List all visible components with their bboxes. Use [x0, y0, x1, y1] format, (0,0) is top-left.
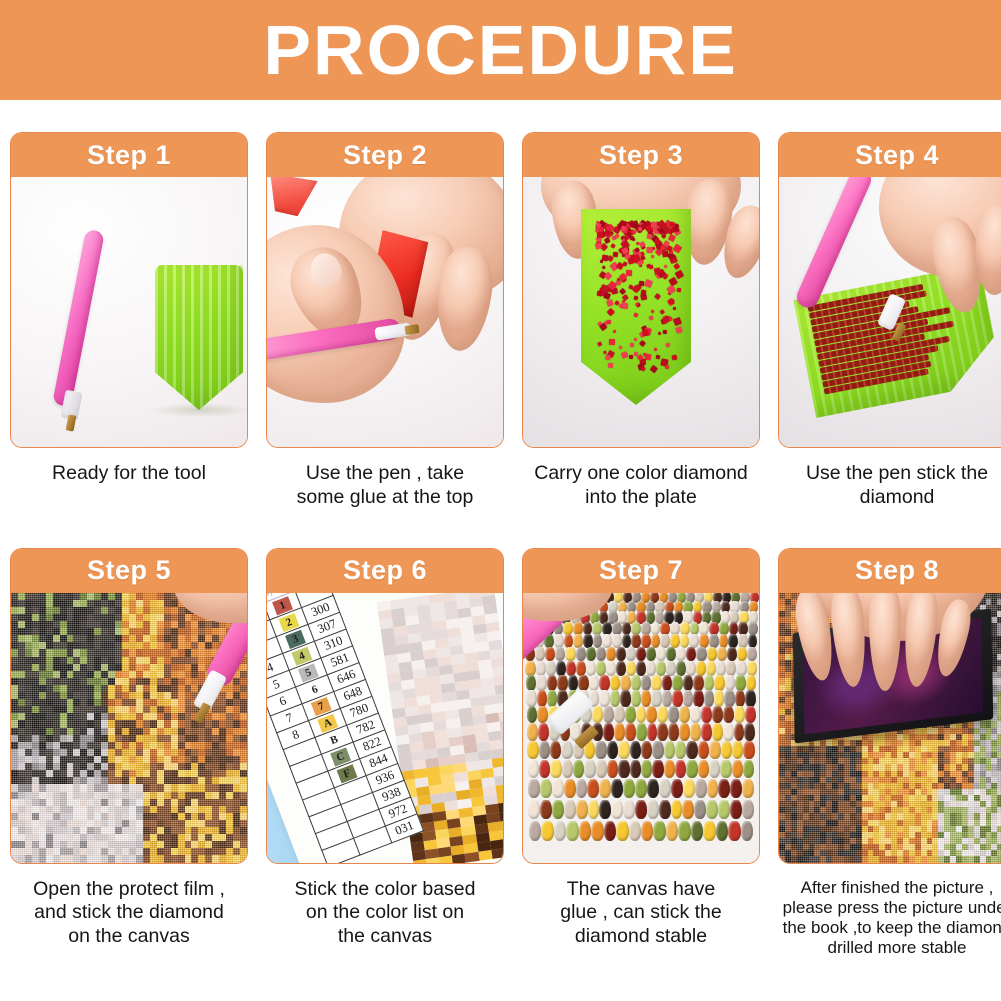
step-caption-7: The canvas have glue , can stick the dia…: [522, 878, 760, 949]
step-photo-2: [267, 177, 503, 447]
step-photo-7: [523, 593, 759, 863]
step-header-5: Step 5: [11, 549, 247, 593]
step-card-1[interactable]: Step 1: [10, 132, 248, 448]
step-header-label-2: Step 2: [343, 140, 427, 171]
step-header-3: Step 3: [523, 133, 759, 177]
step-cell-6: Step 6 SerialSymbolDMC112230033307443105…: [266, 548, 504, 958]
step-cell-5: Step 5 Open the protect film ,: [10, 548, 248, 958]
step-header-label-5: Step 5: [87, 555, 171, 586]
page-title: PROCEDURE: [263, 15, 738, 85]
step-cell-3: Step 3 C: [522, 132, 760, 510]
step-cell-2: Step 2: [266, 132, 504, 510]
step-caption-5: Open the protect film , and stick the di…: [10, 878, 248, 949]
procedure-infographic: PROCEDURE Step 1: [0, 0, 1001, 1001]
step-photo-6: SerialSymbolDMC1122300333074431055581666…: [267, 593, 503, 863]
step-photo-5: [11, 593, 247, 863]
step-card-8[interactable]: Step 8: [778, 548, 1001, 864]
step-cell-4: Step 4: [778, 132, 1001, 510]
step-caption-6: Stick the color based on the color list …: [266, 878, 504, 949]
step-card-5[interactable]: Step 5: [10, 548, 248, 864]
step-header-2: Step 2: [267, 133, 503, 177]
step-card-4[interactable]: Step 4: [778, 132, 1001, 448]
step-photo-1: [11, 177, 247, 447]
step-header-label-3: Step 3: [599, 140, 683, 171]
step-photo-4: [779, 177, 1001, 447]
step-photo-8: [779, 593, 1001, 863]
step-cell-8: Step 8 After finished the picture , plea…: [778, 548, 1001, 958]
step-photo-3: [523, 177, 759, 447]
step-caption-2: Use the pen , take some glue at the top: [266, 462, 504, 510]
step-caption-4: Use the pen stick the diamond: [778, 462, 1001, 510]
sunflower-diamond-canvas: [11, 593, 247, 863]
page-banner: PROCEDURE: [0, 0, 1001, 100]
step-header-label-1: Step 1: [87, 140, 171, 171]
step-card-6[interactable]: Step 6 SerialSymbolDMC112230033307443105…: [266, 548, 504, 864]
step-card-2[interactable]: Step 2: [266, 132, 504, 448]
step-caption-8: After finished the picture , please pres…: [778, 878, 1001, 958]
step-header-1: Step 1: [11, 133, 247, 177]
steps-row-top: Step 1: [0, 132, 1001, 510]
steps-grid: Step 1: [0, 100, 1001, 958]
step-cell-7: Step 7 The canvas have glue: [522, 548, 760, 958]
step-card-7[interactable]: Step 7: [522, 548, 760, 864]
step-caption-1: Ready for the tool: [10, 462, 248, 486]
step-header-label-6: Step 6: [343, 555, 427, 586]
step-header-8: Step 8: [779, 549, 1001, 593]
step-header-label-8: Step 8: [855, 555, 939, 586]
step-header-4: Step 4: [779, 133, 1001, 177]
step-header-label-4: Step 4: [855, 140, 939, 171]
steps-row-bottom: Step 5 Open the protect film ,: [0, 548, 1001, 958]
step-header-label-7: Step 7: [599, 555, 683, 586]
step-card-3[interactable]: Step 3: [522, 132, 760, 448]
step-cell-1: Step 1: [10, 132, 248, 510]
step-header-7: Step 7: [523, 549, 759, 593]
red-diamonds-pile: [589, 221, 683, 371]
step-caption-3: Carry one color diamond into the plate: [522, 462, 760, 510]
step-header-6: Step 6: [267, 549, 503, 593]
